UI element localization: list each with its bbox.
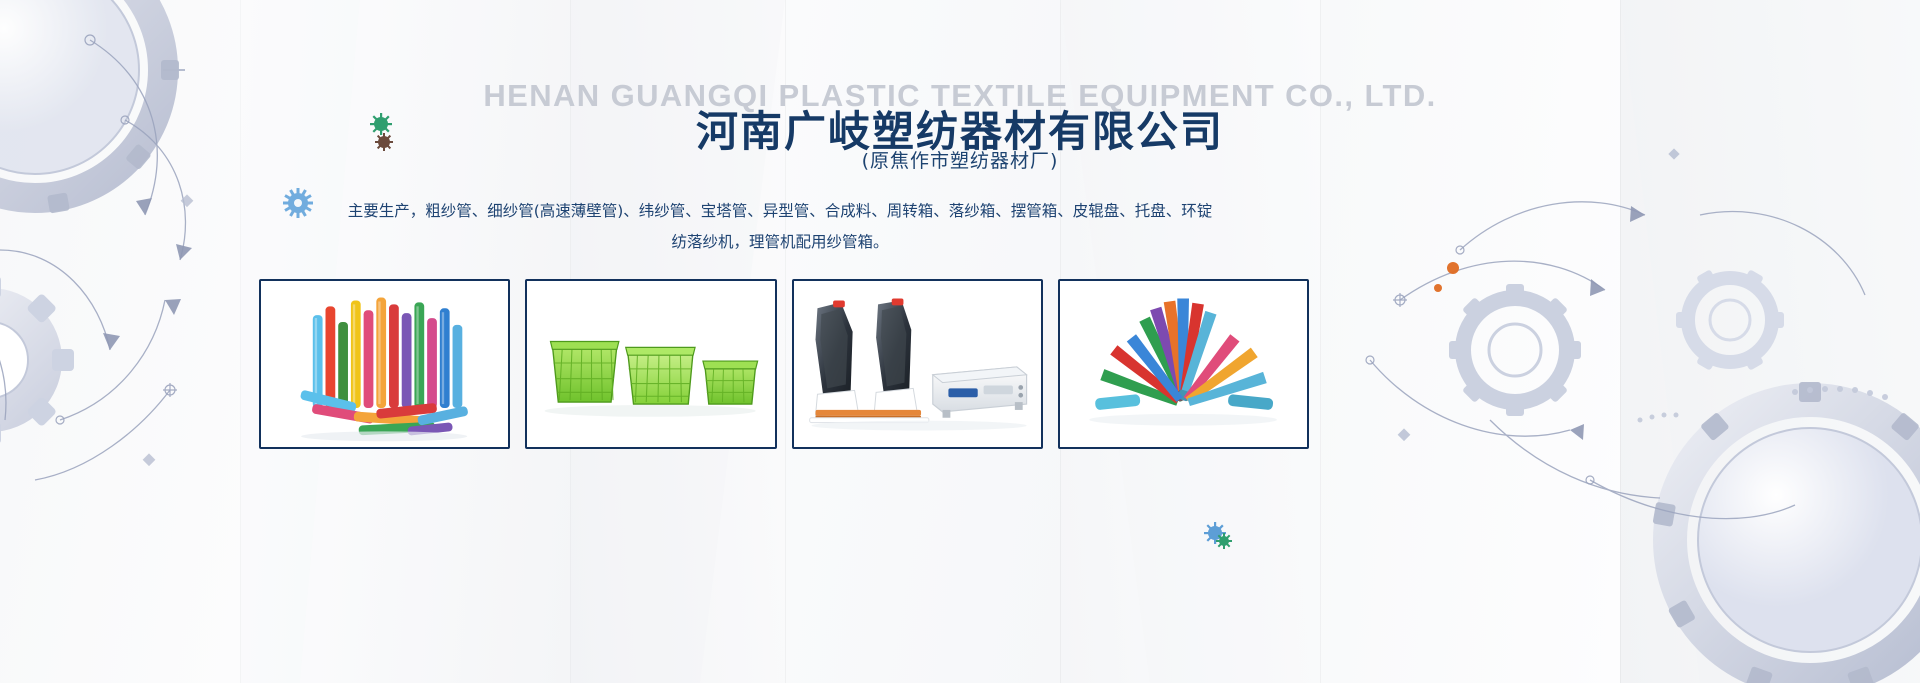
company-description: 主要生产，粗纱管、细纱管(高速薄壁管)、纬纱管、宝塔管、异型管、合成料、周转箱、… xyxy=(340,196,1220,258)
product-image-row xyxy=(259,279,1309,449)
page-subtitle: (原焦作市塑纺器材厂) xyxy=(0,146,1920,173)
bobbin-tubes-image xyxy=(261,279,508,449)
product-card-crates[interactable] xyxy=(525,279,776,449)
product-card-machine[interactable] xyxy=(792,279,1043,449)
product-card-cone-tubes[interactable] xyxy=(1058,279,1309,449)
machine-image xyxy=(794,279,1041,449)
product-card-bobbin-tubes[interactable] xyxy=(259,279,510,449)
hero-banner: HENAN GUANGQI PLASTIC TEXTILE EQUIPMENT … xyxy=(0,0,1920,683)
crates-image xyxy=(527,279,774,449)
cone-tubes-image xyxy=(1060,279,1307,449)
